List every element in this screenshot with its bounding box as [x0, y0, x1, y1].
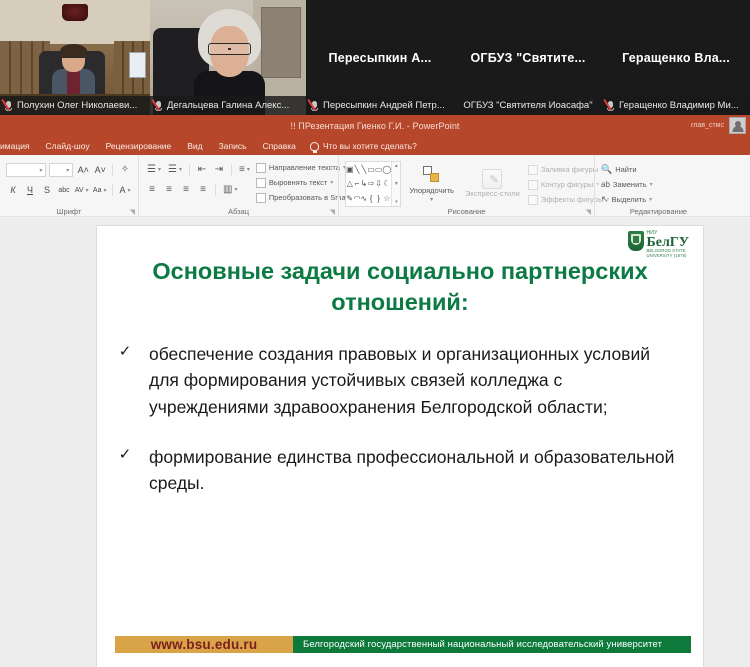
microphone-muted-icon	[154, 100, 163, 112]
shapes-more-icon[interactable]: ▾	[395, 199, 398, 205]
powerpoint-window: !! ПРезентация Гиенко Г.И. - PowerPoint …	[0, 115, 750, 667]
participant-name: Полухин Олег Николаеви...	[17, 100, 137, 111]
align-left-icon[interactable]: ≡	[145, 183, 159, 198]
video-tile-1[interactable]: Полухин Олег Николаеви...	[0, 0, 150, 115]
line-spacing-icon[interactable]: ≡▾	[237, 163, 252, 178]
align-center-icon[interactable]: ≡	[162, 183, 176, 198]
shape-right-brace-icon[interactable]: }	[375, 191, 383, 206]
group-label-editing: Редактирование	[595, 207, 722, 216]
ribbon-group-paragraph: ☰▾ ☰▾ ⇤ ⇥ ≡▾ ≡ ≡ ≡ ≡	[138, 155, 338, 217]
bullet-item: ✓ формирование единства профессиональной…	[117, 444, 681, 497]
video-tile-5[interactable]: Геращенко Вла... Геращенко Владимир Ми..…	[602, 0, 750, 115]
tile-label-1: Полухин Олег Николаеви...	[0, 96, 150, 115]
tile-label-3: Пересыпкин Андрей Петр...	[306, 96, 454, 115]
group-label-paragraph: Абзац	[139, 207, 338, 216]
font-size-combo[interactable]: ▾	[49, 163, 73, 177]
arrange-icon	[422, 165, 442, 185]
shape-oval-icon[interactable]: ◯	[382, 162, 391, 177]
shield-icon	[628, 231, 644, 251]
find-label: Найти	[615, 165, 636, 174]
shape-star-icon[interactable]: ☆	[382, 191, 391, 206]
screen: Полухин Олег Николаеви... Дегальцева Гал…	[0, 0, 750, 667]
tab-help[interactable]: Справка	[255, 141, 304, 151]
ribbon-group-editing: 🔍 Найти ab Заменить ▾ ↖ Выделить ▾ Редак…	[594, 155, 722, 217]
drawing-dialog-launcher-icon[interactable]: ◥	[586, 208, 591, 216]
change-case-button[interactable]: Aa▾	[92, 183, 107, 198]
increase-font-size-button[interactable]: A˄	[76, 163, 90, 178]
find-button[interactable]: 🔍 Найти	[601, 162, 716, 177]
video-tile-2[interactable]: Дегальцева Галина Алекс...	[150, 0, 306, 115]
justify-icon[interactable]: ≡	[196, 183, 210, 198]
shape-left-brace-icon[interactable]: {	[367, 191, 375, 206]
decrease-font-size-button[interactable]: A˅	[93, 163, 107, 178]
video-conference-strip: Полухин Олег Николаеви... Дегальцева Гал…	[0, 0, 750, 115]
participant-display-name: Пересыпкин А...	[323, 51, 438, 65]
slide-body[interactable]: ✓ обеспечение создания правовых и органи…	[117, 341, 681, 520]
scroll-down-icon[interactable]: ▼	[394, 181, 399, 187]
replace-button[interactable]: ab Заменить ▾	[601, 177, 716, 192]
text-direction-icon	[256, 163, 266, 173]
shape-fill-label: Заливка фигуры	[541, 165, 598, 174]
shape-textbox-icon[interactable]: ▣	[346, 162, 354, 177]
tab-review[interactable]: Рецензирование	[98, 141, 180, 151]
clear-formatting-icon[interactable]: ✧	[118, 163, 132, 178]
shape-moon-icon[interactable]: ☾	[382, 177, 391, 192]
tab-record[interactable]: Запись	[211, 141, 255, 151]
ribbon-tabs: имация Слайд-шоу Рецензирование Вид Запи…	[0, 137, 750, 155]
search-icon: 🔍	[601, 165, 612, 174]
columns-icon[interactable]: ▥▾	[221, 183, 239, 198]
increase-indent-icon[interactable]: ⇥	[212, 163, 226, 178]
video-tile-3[interactable]: Пересыпкин А... Пересыпкин Андрей Петр..…	[306, 0, 454, 115]
replace-icon: ab	[601, 181, 610, 189]
bullets-icon[interactable]: ☰▾	[145, 163, 163, 178]
tab-slideshow[interactable]: Слайд-шоу	[38, 141, 98, 151]
footer-url-text: www.bsu.edu.ru	[151, 637, 258, 652]
arrange-label: Упорядочить	[409, 186, 454, 195]
logo-main-text: БелГУ	[646, 236, 689, 249]
shape-line-icon[interactable]: ╲	[354, 162, 361, 177]
bullet-item: ✓ обеспечение создания правовых и органи…	[117, 341, 681, 420]
font-color-button[interactable]: A▾	[118, 183, 132, 198]
powerpoint-title-bar: !! ПРезентация Гиенко Г.И. - PowerPoint …	[0, 115, 750, 137]
tell-me-box[interactable]: Что вы хотите сделать?	[310, 141, 417, 151]
footer-url-block: www.bsu.edu.ru	[115, 636, 293, 653]
shape-elbow2-icon[interactable]: ↳	[361, 177, 368, 192]
tab-animations[interactable]: имация	[0, 141, 38, 151]
checkmark-icon: ✓	[117, 341, 133, 420]
video-tile-4-active-speaker[interactable]: ОГБУЗ "Святите... ОГБУЗ "Святителя Иоаса…	[454, 0, 602, 115]
participant-name: Дегальцева Галина Алекс...	[167, 100, 289, 111]
shape-right-arrow-icon[interactable]: ⇨	[367, 177, 375, 192]
shadow-button[interactable]: S	[40, 183, 54, 198]
group-label-font: Шрифт	[0, 207, 138, 216]
microphone-muted-icon	[606, 100, 615, 112]
checkmark-icon: ✓	[117, 444, 133, 497]
shape-triangle-icon[interactable]: △	[346, 177, 354, 192]
shape-fill-icon	[528, 165, 538, 175]
shape-elbow-icon[interactable]: ⌐	[354, 177, 361, 192]
cursor-select-icon: ↖	[601, 195, 609, 204]
ribbon-group-drawing: ▣ ╲ ╲ ▭ ▭ ◯ △ ⌐ ↳ ⇨ ⇩ ☾ ✎	[338, 155, 594, 217]
microphone-muted-icon	[4, 100, 13, 112]
ribbon-group-font: ▾ ▾ A˄ A˅ ✧ К Ч S abc AV▾ Aa▾ A▾	[0, 155, 138, 217]
shape-outline-label: Контур фигуры	[541, 180, 593, 189]
slide-title[interactable]: Основные задачи социально партнерских от…	[131, 256, 669, 318]
align-right-icon[interactable]: ≡	[179, 183, 193, 198]
bullet-text: обеспечение создания правовых и организа…	[149, 341, 681, 420]
account-name: глав_стмс	[691, 122, 724, 129]
shapes-grid[interactable]: ▣ ╲ ╲ ▭ ▭ ◯ △ ⌐ ↳ ⇨ ⇩ ☾ ✎	[346, 162, 391, 206]
replace-label: Заменить	[613, 180, 647, 189]
coat-of-arms-icon	[62, 4, 88, 21]
footer-university-name: Белгородский государственный национальны…	[303, 639, 662, 650]
shape-round-rect-icon[interactable]: ▭	[375, 162, 383, 177]
participant-display-name: Геращенко Вла...	[616, 51, 736, 65]
slide-canvas[interactable]: НИУ БелГУ BELGOROD STATE UNIVERSITY (187…	[0, 218, 750, 667]
quick-styles-label: Экспресс-стили	[465, 190, 520, 198]
quick-styles-button[interactable]: Экспресс-стили	[462, 161, 523, 207]
tell-me-label: Что вы хотите сделать?	[323, 141, 417, 151]
participant-name: Геращенко Владимир Ми...	[619, 100, 739, 111]
microphone-muted-icon	[310, 100, 319, 112]
shapes-scrollbar[interactable]: ▲ ▼ ▾	[391, 162, 400, 206]
tile-label-5: Геращенко Владимир Ми...	[602, 96, 750, 115]
decrease-indent-icon[interactable]: ⇤	[195, 163, 209, 178]
shape-rect-icon[interactable]: ▭	[367, 162, 375, 177]
group-label-drawing: Рисование	[339, 207, 594, 216]
monitor	[129, 52, 146, 78]
strikethrough-button[interactable]: abc	[57, 183, 71, 198]
avatar[interactable]	[729, 117, 746, 134]
bullet-text: формирование единства профессиональной и…	[149, 444, 681, 497]
shape-down-arrow-icon[interactable]: ⇩	[375, 177, 383, 192]
participant-name: Пересыпкин Андрей Петр...	[323, 100, 445, 111]
window-title: !! ПРезентация Гиенко Г.И. - PowerPoint	[290, 121, 459, 131]
font-name-combo[interactable]: ▾	[6, 163, 46, 177]
shape-outline-icon	[528, 180, 538, 190]
align-text-icon	[256, 178, 266, 188]
tile-label-2: Дегальцева Галина Алекс...	[150, 96, 306, 115]
participant-name: ОГБУЗ "Святителя Иоасафа"	[463, 100, 592, 111]
paragraph-dialog-launcher-icon[interactable]: ◥	[330, 208, 335, 216]
slide-footer: www.bsu.edu.ru Белгородский государствен…	[115, 636, 691, 653]
slide[interactable]: НИУ БелГУ BELGOROD STATE UNIVERSITY (187…	[97, 226, 703, 667]
underline-button[interactable]: Ч	[23, 183, 37, 198]
arrange-button[interactable]: Упорядочить ▾	[406, 161, 457, 207]
quick-styles-icon	[482, 169, 502, 189]
scroll-up-icon[interactable]: ▲	[394, 163, 399, 169]
account-area[interactable]: глав_стмс	[691, 117, 746, 134]
select-button[interactable]: ↖ Выделить ▾	[601, 192, 716, 207]
logo-text: НИУ БелГУ BELGOROD STATE UNIVERSITY (187…	[646, 231, 689, 258]
character-spacing-button[interactable]: AV▾	[74, 183, 89, 198]
footer-name-block: Белгородский государственный национальны…	[293, 636, 691, 653]
belgu-logo: НИУ БелГУ BELGOROD STATE UNIVERSITY (187…	[628, 231, 689, 258]
select-label: Выделить	[612, 195, 647, 204]
shapes-gallery[interactable]: ▣ ╲ ╲ ▭ ▭ ◯ △ ⌐ ↳ ⇨ ⇩ ☾ ✎	[345, 161, 401, 207]
ribbon: ▾ ▾ A˄ A˅ ✧ К Ч S abc AV▾ Aa▾ A▾	[0, 155, 750, 217]
shape-effects-icon	[528, 195, 538, 205]
font-dialog-launcher-icon[interactable]: ◥	[130, 208, 135, 216]
numbering-icon[interactable]: ☰▾	[166, 163, 184, 178]
lightbulb-icon	[310, 142, 319, 151]
tile-label-4: ОГБУЗ "Святителя Иоасафа"	[454, 96, 602, 115]
shape-curve-icon[interactable]: ∿	[361, 191, 368, 206]
participant-display-name: ОГБУЗ "Святите...	[464, 51, 591, 65]
smartart-icon	[256, 193, 266, 203]
shape-arc-icon[interactable]: ◠	[354, 191, 361, 206]
tab-view[interactable]: Вид	[179, 141, 210, 151]
shape-scribble-icon[interactable]: ✎	[346, 191, 354, 206]
shape-arrow-icon[interactable]: ╲	[361, 162, 368, 177]
italic-button[interactable]: К	[6, 183, 20, 198]
align-text-label: Выровнять текст	[269, 178, 327, 187]
text-direction-label: Направление текста	[269, 163, 340, 172]
